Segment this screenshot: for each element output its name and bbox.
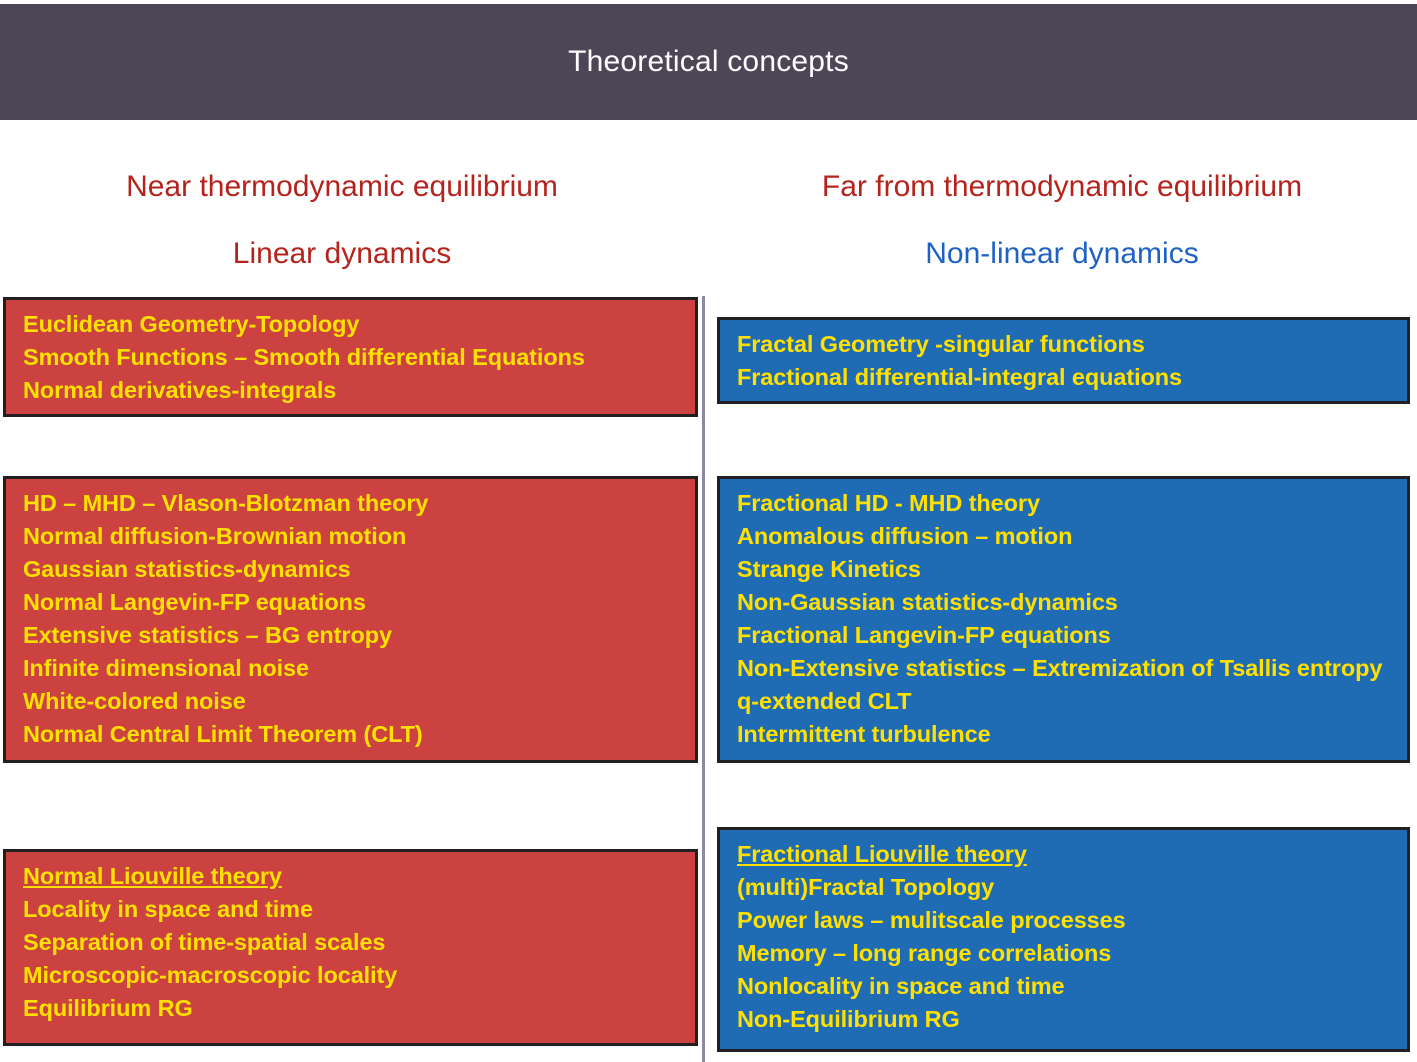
concept-line: Strange Kinetics bbox=[737, 553, 1407, 586]
concept-line: Locality in space and time bbox=[23, 893, 695, 926]
concept-line: Intermittent turbulence bbox=[737, 718, 1407, 751]
concept-line: Gaussian statistics-dynamics bbox=[23, 553, 695, 586]
concept-line: Smooth Functions – Smooth differential E… bbox=[23, 341, 695, 374]
concept-line: Normal Central Limit Theorem (CLT) bbox=[23, 718, 695, 751]
concept-line: Anomalous diffusion – motion bbox=[737, 520, 1407, 553]
right-column-heading: Far from thermodynamic equilibrium bbox=[712, 170, 1412, 204]
concept-line: Non-Extensive statistics – Extremization… bbox=[737, 652, 1407, 685]
concept-line: Extensive statistics – BG entropy bbox=[23, 619, 695, 652]
concept-line: Euclidean Geometry-Topology bbox=[23, 308, 695, 341]
concept-box-left-3: Normal Liouville theoryLocality in space… bbox=[3, 849, 698, 1046]
concept-box-right-2: Fractional HD - MHD theoryAnomalous diff… bbox=[717, 476, 1410, 763]
left-column-subheading: Linear dynamics bbox=[0, 237, 684, 271]
header-bar: Theoretical concepts bbox=[0, 4, 1417, 120]
concept-box-right-1: Fractal Geometry -singular functionsFrac… bbox=[717, 317, 1410, 404]
concept-line: Fractal Geometry -singular functions bbox=[737, 328, 1407, 361]
concept-line: Non-Equilibrium RG bbox=[737, 1003, 1407, 1036]
concept-line: Normal derivatives-integrals bbox=[23, 374, 695, 407]
concept-line: Normal diffusion-Brownian motion bbox=[23, 520, 695, 553]
concept-line: HD – MHD – Vlason-Blotzman theory bbox=[23, 487, 695, 520]
concept-line: q-extended CLT bbox=[737, 685, 1407, 718]
concept-line: Infinite dimensional noise bbox=[23, 652, 695, 685]
right-column-subheading: Non-linear dynamics bbox=[712, 237, 1412, 271]
concept-line: White-colored noise bbox=[23, 685, 695, 718]
concept-line: Power laws – mulitscale processes bbox=[737, 904, 1407, 937]
concept-line: Separation of time-spatial scales bbox=[23, 926, 695, 959]
concept-line: Normal Liouville theory bbox=[23, 860, 695, 893]
concept-line: Microscopic-macroscopic locality bbox=[23, 959, 695, 992]
left-column-heading: Near thermodynamic equilibrium bbox=[0, 170, 684, 204]
concept-line: Nonlocality in space and time bbox=[737, 970, 1407, 1003]
concept-line: Fractional differential-integral equatio… bbox=[737, 361, 1407, 394]
concept-line: (multi)Fractal Topology bbox=[737, 871, 1407, 904]
concept-line: Fractional Langevin-FP equations bbox=[737, 619, 1407, 652]
concept-line: Fractional HD - MHD theory bbox=[737, 487, 1407, 520]
concept-box-left-1: Euclidean Geometry-TopologySmooth Functi… bbox=[3, 297, 698, 417]
concept-line: Equilibrium RG bbox=[23, 992, 695, 1025]
concept-line: Fractional Liouville theory bbox=[737, 838, 1407, 871]
concept-box-right-3: Fractional Liouville theory(multi)Fracta… bbox=[717, 827, 1410, 1052]
column-divider bbox=[702, 296, 705, 1062]
concept-line: Non-Gaussian statistics-dynamics bbox=[737, 586, 1407, 619]
concept-line: Memory – long range correlations bbox=[737, 937, 1407, 970]
page-title: Theoretical concepts bbox=[568, 45, 849, 79]
concept-box-left-2: HD – MHD – Vlason-Blotzman theoryNormal … bbox=[3, 476, 698, 763]
concept-line: Normal Langevin-FP equations bbox=[23, 586, 695, 619]
